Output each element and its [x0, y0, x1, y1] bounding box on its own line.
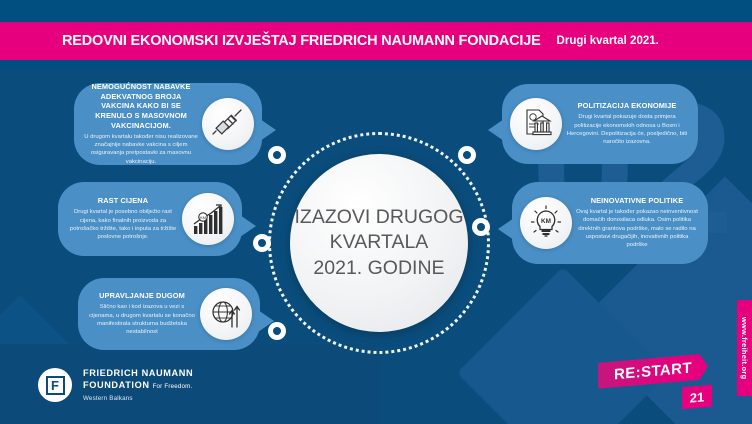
website-url-strip[interactable]: www.freiheit.org [737, 300, 752, 396]
bubble-vaccine[interactable]: NEMOGUĆNOST NABAVKE ADEKVATNOG BROJA VAK… [74, 83, 262, 165]
fnf-logo-foundation: FOUNDATION [83, 380, 150, 390]
bubble-prices-text: RAST CIJENA Drugi kvartal je posebno obi… [64, 191, 182, 246]
bubble-prices-tail [240, 215, 256, 237]
header-under-band [0, 60, 752, 70]
ring-node-left [253, 234, 271, 252]
restart-year-badge: 21 [682, 385, 712, 410]
bubble-debt-tail [258, 310, 274, 332]
center-line-2: KVARTALA [294, 230, 463, 255]
bubble-policies-body: Ovaj kvartal je također pokazao neinvent… [576, 208, 698, 250]
lightbulb-km-icon: KM [520, 197, 572, 249]
main-canvas: 02 IZAZOVI DRUGOG KVARTALA 2021. GODINE … [0, 70, 752, 424]
center-circle: IZAZOVI DRUGOG KVARTALA 2021. GODINE [290, 154, 468, 332]
bubble-vaccine-text: NEMOGUĆNOST NABAVKE ADEKVATNOG BROJA VAK… [80, 77, 202, 171]
bubble-debt-body: Slično kao i kod izazova u vezi s cijena… [88, 303, 196, 337]
bubble-policies[interactable]: KM NEINOVATIVNE POLITIKE Ovaj kvartal je… [512, 182, 708, 264]
bubble-politicization-title: POLITIZACIJA EKONOMIJE [566, 101, 688, 111]
fnf-logo-line-1: FRIEDRICH NAUMANN [83, 368, 193, 380]
fnf-logo-for-freedom: For Freedom. [153, 383, 193, 390]
fnf-logo-text: FRIEDRICH NAUMANN FOUNDATIONFor Freedom.… [83, 368, 193, 402]
infographic-canvas: REDOVNI EKONOMSKI IZVJEŠTAJ FRIEDRICH NA… [0, 0, 752, 424]
header-pink-bar: REDOVNI EKONOMSKI IZVJEŠTAJ FRIEDRICH NA… [0, 22, 752, 60]
bubble-politicization-tail [488, 119, 504, 141]
header-top-band [0, 0, 752, 22]
bubble-prices[interactable]: RAST CIJENA Drugi kvartal je posebno obi… [58, 182, 242, 256]
center-label: IZAZOVI DRUGOG KVARTALA 2021. GODINE [294, 205, 463, 281]
bubble-vaccine-title: NEMOGUĆNOST NABAVKE ADEKVATNOG BROJA VAK… [84, 82, 198, 131]
bubble-policies-text: NEINOVATIVNE POLITIKE Ovaj kvartal je ta… [572, 191, 702, 255]
fnf-logo-region: Western Balkans [83, 395, 193, 402]
bubble-politicization-body: Drugi kvartal pokazuje dosta primjera po… [566, 113, 688, 147]
center-line-1: IZAZOVI DRUGOG [294, 205, 463, 230]
bubble-vaccine-body: U drugom kvartalu također nisu realizova… [84, 133, 198, 167]
center-line-3: 2021. GODINE [294, 256, 463, 281]
bubble-debt-text: UPRAVLJANJE DUGOM Slično kao i kod izazo… [84, 286, 200, 341]
syringe-icon [202, 98, 254, 150]
bubble-politicization-text: POLITIZACIJA EKONOMIJE Drugi kvartal pok… [562, 96, 692, 151]
bubble-debt[interactable]: UPRAVLJANJE DUGOM Slično kao i kod izazo… [78, 278, 260, 350]
bubble-prices-body: Drugi kvartal je posebno obilježio rast … [68, 208, 178, 242]
bubble-vaccine-tail [260, 119, 276, 141]
fnf-logo-f-glyph [46, 376, 65, 395]
bubble-politicization[interactable]: POLITIZACIJA EKONOMIJE Drugi kvartal pok… [502, 84, 698, 164]
page-title: REDOVNI EKONOMSKI IZVJEŠTAJ FRIEDRICH NA… [62, 33, 541, 49]
page-subtitle: Drugi kvartal 2021. [557, 35, 659, 47]
fnf-logo: FRIEDRICH NAUMANN FOUNDATIONFor Freedom.… [38, 368, 193, 402]
bubble-policies-tail [498, 218, 514, 240]
restart-year: 21 [690, 389, 704, 405]
globe-growth-icon [200, 288, 252, 340]
bubble-policies-title: NEINOVATIVNE POLITIKE [576, 196, 698, 206]
ring-node-right [472, 218, 490, 236]
svg-text:KM: KM [541, 218, 551, 225]
website-url: www.freiheit.org [740, 317, 749, 379]
ring-node-top-right [458, 146, 476, 164]
svg-text:KM: KM [200, 215, 206, 220]
growth-chart-icon: KM [182, 193, 234, 245]
bubble-debt-title: UPRAVLJANJE DUGOM [88, 291, 196, 301]
fnf-logo-icon [38, 368, 72, 402]
ring-node-top-left [268, 146, 286, 164]
restart-label: RE:START [614, 359, 692, 383]
document-bank-icon [510, 98, 562, 150]
fnf-logo-line-2: FOUNDATIONFor Freedom. [83, 380, 193, 392]
bubble-prices-title: RAST CIJENA [68, 196, 178, 206]
